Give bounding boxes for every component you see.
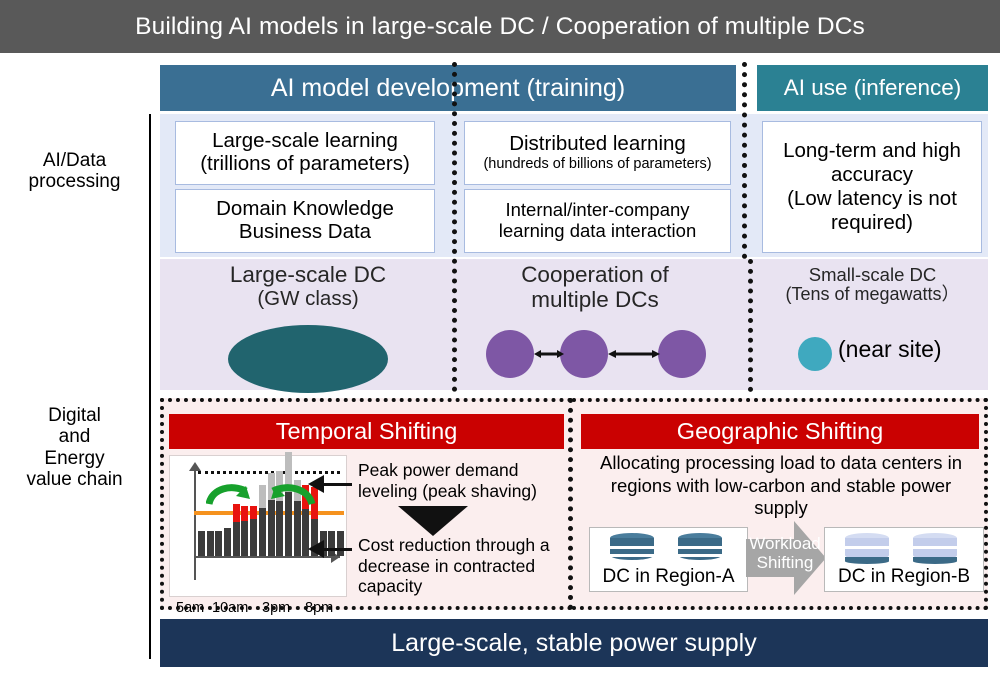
box-long-term-line4: required)	[831, 211, 913, 235]
box-distributed-learning-line2: (hundreds of billions of parameters)	[483, 156, 711, 173]
chart-bar-base	[207, 531, 214, 556]
chart-bar	[241, 506, 248, 556]
chart-bar-base	[215, 531, 222, 556]
double-arrow-icon-2	[608, 347, 660, 361]
left-column-divider	[149, 114, 151, 659]
row-label-ai-data-line2: processing	[0, 171, 149, 192]
header-temporal-shifting: Temporal Shifting	[169, 414, 564, 449]
chart-bar-base	[294, 501, 301, 556]
dc-node-circle-icon-2	[560, 330, 608, 378]
diagram-root: Building AI models in large-scale DC / C…	[0, 0, 1000, 679]
chart-bar	[207, 531, 214, 556]
workload-shifting-line2: Shifting	[742, 553, 828, 572]
chart-bar-base	[268, 500, 275, 556]
box-domain-knowledge-line2: Business Data	[239, 221, 371, 244]
database-cylinder-icon-b1	[845, 533, 889, 563]
chart-bar-base	[337, 531, 344, 556]
dc-region-b-card: DC in Region-B	[824, 527, 984, 592]
chart-bar-base	[328, 531, 335, 556]
chart-bar-base	[250, 519, 257, 556]
label-large-scale-dc-title: Large-scale DC	[172, 263, 444, 288]
header-ai-use-inference: AI use (inference)	[757, 65, 988, 111]
large-scale-dc-ellipse-icon	[228, 325, 388, 393]
header-geographic-shifting: Geographic Shifting	[581, 414, 979, 449]
chart-bar	[337, 531, 344, 556]
page-title: Building AI models in large-scale DC / C…	[0, 0, 1000, 53]
chart-bar	[259, 485, 266, 556]
chart-y-axis	[194, 468, 196, 580]
box-domain-knowledge: Domain Knowledge Business Data	[175, 189, 435, 253]
box-domain-knowledge-line1: Domain Knowledge	[216, 198, 394, 221]
workload-shifting-label: Workload Shifting	[742, 534, 828, 572]
geographic-shifting-description: Allocating processing load to data cente…	[583, 452, 979, 520]
box-large-scale-learning: Large-scale learning (trillions of param…	[175, 121, 435, 185]
database-cylinder-icon-a1	[610, 533, 654, 563]
double-arrow-icon-1	[534, 347, 564, 361]
box-internal-inter-company: Internal/inter-company learning data int…	[464, 189, 731, 253]
divider-training-inference-dc	[748, 259, 753, 392]
bottom-power-supply-bar: Large-scale, stable power supply	[160, 619, 988, 667]
callout-arrow-1-icon	[308, 475, 324, 493]
row-label-vc-line1: Digital	[0, 405, 149, 426]
label-small-scale-dc-title: Small-scale DC	[760, 265, 985, 285]
label-large-scale-dc-sub: (GW class)	[172, 288, 444, 311]
chart-bar	[224, 528, 231, 556]
header-inference-label: AI use (inference)	[784, 75, 962, 101]
page-title-text: Building AI models in large-scale DC / C…	[135, 13, 865, 41]
header-training-label: AI model development (training)	[271, 74, 625, 103]
row-label-vc-line3: Energy	[0, 448, 149, 469]
down-triangle-icon	[398, 506, 468, 536]
database-cylinder-icon-a2	[678, 533, 722, 563]
chart-bar	[215, 531, 222, 556]
box-long-term-high-accuracy: Long-term and high accuracy (Low latency…	[762, 121, 982, 253]
header-ai-model-development: AI model development (training)	[160, 65, 736, 111]
label-small-scale-dc: Small-scale DC (Tens of megawatts）	[760, 265, 985, 305]
divider-temporal-geographic	[568, 398, 573, 610]
dc-region-b-label: DC in Region-B	[825, 566, 983, 588]
label-large-scale-dc: Large-scale DC (GW class)	[172, 263, 444, 310]
chart-bar-base	[241, 521, 248, 556]
box-large-scale-learning-line2: (trillions of parameters)	[200, 153, 410, 176]
chart-bar-base	[224, 528, 231, 556]
dc-region-a-card: DC in Region-A	[589, 527, 748, 592]
chart-bar	[250, 506, 257, 556]
chart-xtick-1: 10am	[212, 600, 248, 616]
chart-xtick-0: 5am	[176, 600, 204, 616]
box-long-term-line1: Long-term and high	[783, 139, 961, 163]
label-coop-line1: Cooperation of	[460, 263, 730, 288]
dc-region-a-label: DC in Region-A	[590, 566, 747, 588]
row-label-ai-data-processing: AI/Data processing	[0, 150, 149, 193]
dc-node-circle-icon-3	[658, 330, 706, 378]
divider-training-inference-top	[742, 62, 747, 259]
label-near-site: (near site)	[838, 336, 942, 363]
label-small-scale-dc-sub: (Tens of megawatts）	[760, 285, 985, 305]
label-cooperation-of-dcs: Cooperation of multiple DCs	[460, 263, 730, 313]
box-long-term-line3: (Low latency is not	[787, 187, 957, 211]
row-label-ai-data-line1: AI/Data	[0, 150, 149, 171]
chart-bar-base	[259, 508, 266, 556]
box-long-term-line2: accuracy	[831, 163, 913, 187]
header-geographic-shifting-label: Geographic Shifting	[677, 418, 883, 445]
annotation-peak-shaving: Peak power demand leveling (peak shaving…	[358, 460, 563, 501]
chart-bar-base	[276, 501, 283, 556]
chart-xtick-3: 8pm	[305, 600, 333, 616]
chart-bar-base	[198, 531, 205, 556]
chart-bar	[198, 531, 205, 556]
callout-line-1	[322, 483, 352, 486]
database-cylinder-icon-b2	[913, 533, 957, 563]
chart-xtick-2: 3pm	[262, 600, 290, 616]
row-label-vc-line2: and	[0, 426, 149, 447]
chart-bar	[233, 504, 240, 556]
box-internal-line1: Internal/inter-company	[505, 200, 689, 221]
shift-arrow-left-icon	[206, 482, 252, 508]
row-label-digital-energy-value-chain: Digital and Energy value chain	[0, 405, 149, 490]
annotation-cost-reduction: Cost reduction through a decrease in con…	[358, 535, 563, 597]
label-coop-line2: multiple DCs	[460, 288, 730, 313]
dc-node-circle-icon-1	[486, 330, 534, 378]
box-distributed-learning-line1: Distributed learning	[509, 133, 686, 156]
chart-bar-base	[233, 522, 240, 556]
near-site-dot-icon	[798, 337, 832, 371]
chart-bar	[328, 531, 335, 556]
box-internal-line2: learning data interaction	[499, 221, 696, 242]
chart-bar-original-peak	[259, 485, 266, 508]
bottom-power-supply-label: Large-scale, stable power supply	[391, 629, 756, 658]
callout-line-2	[322, 548, 352, 551]
row-label-vc-line4: value chain	[0, 469, 149, 490]
workload-shifting-line1: Workload	[742, 534, 828, 553]
chart-bar-shifted	[241, 506, 248, 521]
divider-training-split	[452, 62, 457, 392]
callout-arrow-2-icon	[308, 540, 324, 558]
header-temporal-shifting-label: Temporal Shifting	[276, 418, 458, 445]
box-distributed-learning: Distributed learning (hundreds of billio…	[464, 121, 731, 185]
box-large-scale-learning-line1: Large-scale learning	[212, 130, 398, 153]
